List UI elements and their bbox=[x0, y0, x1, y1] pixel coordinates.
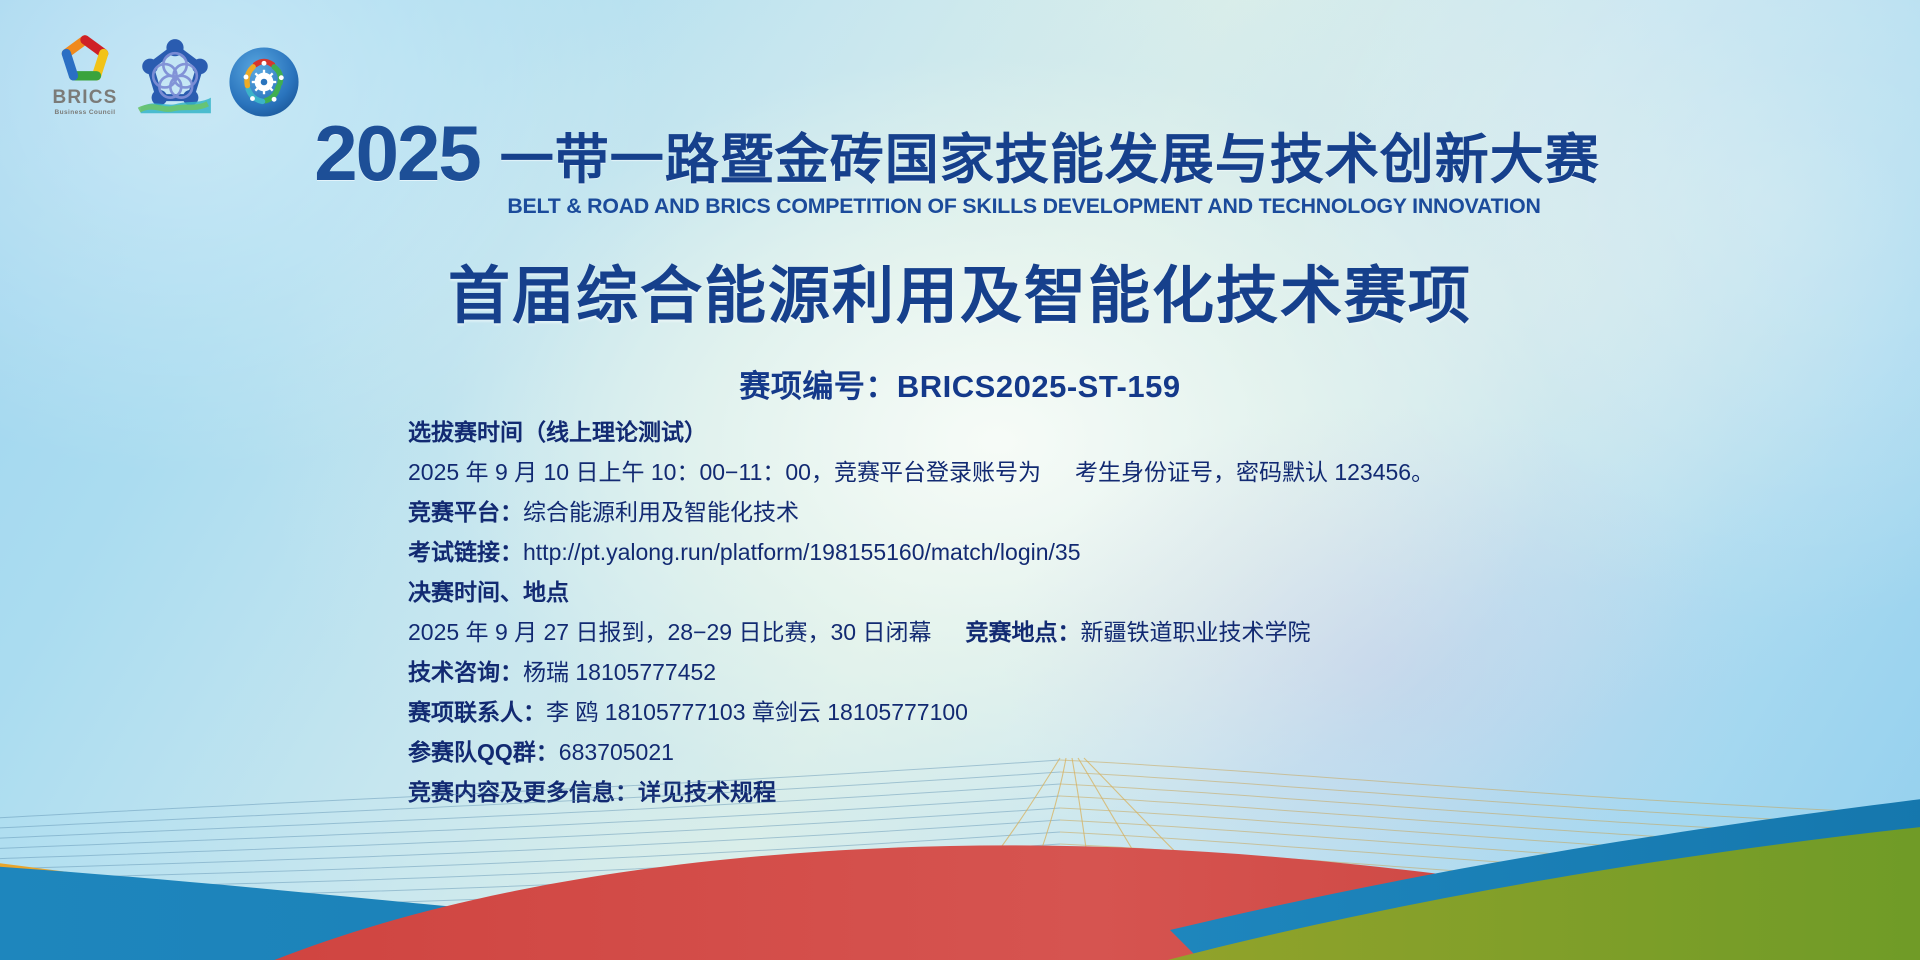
competition-title-cn: 一带一路暨金砖国家技能发展与技术创新大赛 bbox=[500, 133, 1600, 187]
info-row-selection-detail: 2025 年 9 月 10 日上午 10：00−11：00，竞赛平台登录账号为考… bbox=[408, 458, 1728, 486]
brics-business-council-logo: BRICS Business Council bbox=[48, 32, 122, 118]
headline-row: 2025 一带一路暨金砖国家技能发展与技术创新大赛 bbox=[0, 120, 1920, 187]
title-block: 2025 一带一路暨金砖国家技能发展与技术创新大赛 BELT & ROAD AN… bbox=[0, 120, 1920, 406]
platform-label: 竞赛平台： bbox=[408, 499, 523, 525]
info-row-final-heading: 决赛时间、地点 bbox=[408, 578, 1728, 606]
competition-title-en: BELT & ROAD AND BRICS COMPETITION OF SKI… bbox=[137, 194, 1911, 219]
brics-logo-main-text: BRICS bbox=[48, 88, 122, 107]
event-code-label: 赛项编号： bbox=[739, 369, 897, 404]
platform-value: 综合能源利用及智能化技术 bbox=[523, 499, 799, 525]
info-row-selection-heading: 选拔赛时间（线上理论测试） bbox=[408, 418, 1728, 446]
logo-row: BRICS Business Council bbox=[48, 32, 300, 118]
exam-link-label: 考试链接： bbox=[408, 539, 523, 565]
final-heading: 决赛时间、地点 bbox=[408, 579, 569, 605]
brics-knot-logo bbox=[136, 32, 214, 118]
event-title-cn: 首届综合能源利用及智能化技术赛项 bbox=[0, 245, 1920, 335]
poster-root: BRICS Business Council bbox=[0, 0, 1920, 960]
brics-star-icon bbox=[48, 32, 122, 88]
info-row-platform: 竞赛平台：综合能源利用及智能化技术 bbox=[408, 498, 1728, 526]
selection-detail: 2025 年 9 月 10 日上午 10：00−11：00，竞赛平台登录账号为 bbox=[408, 459, 1041, 485]
skills-star-gear-emblem bbox=[228, 46, 300, 118]
selection-detail-2: 考生身份证号，密码默认 123456。 bbox=[1075, 459, 1434, 485]
year-text: 2025 bbox=[314, 120, 480, 187]
brics-logo-sub-text: Business Council bbox=[48, 110, 122, 117]
selection-heading: 选拔赛时间（线上理论测试） bbox=[408, 419, 707, 445]
event-code: 赛项编号：BRICS2025-ST-159 bbox=[0, 361, 1920, 406]
event-code-value: BRICS2025-ST-159 bbox=[897, 369, 1181, 404]
bottom-decoration bbox=[0, 630, 1920, 960]
exam-link-value[interactable]: http://pt.yalong.run/platform/198155160/… bbox=[523, 539, 1080, 565]
info-row-exam-link: 考试链接：http://pt.yalong.run/platform/19815… bbox=[408, 538, 1728, 566]
